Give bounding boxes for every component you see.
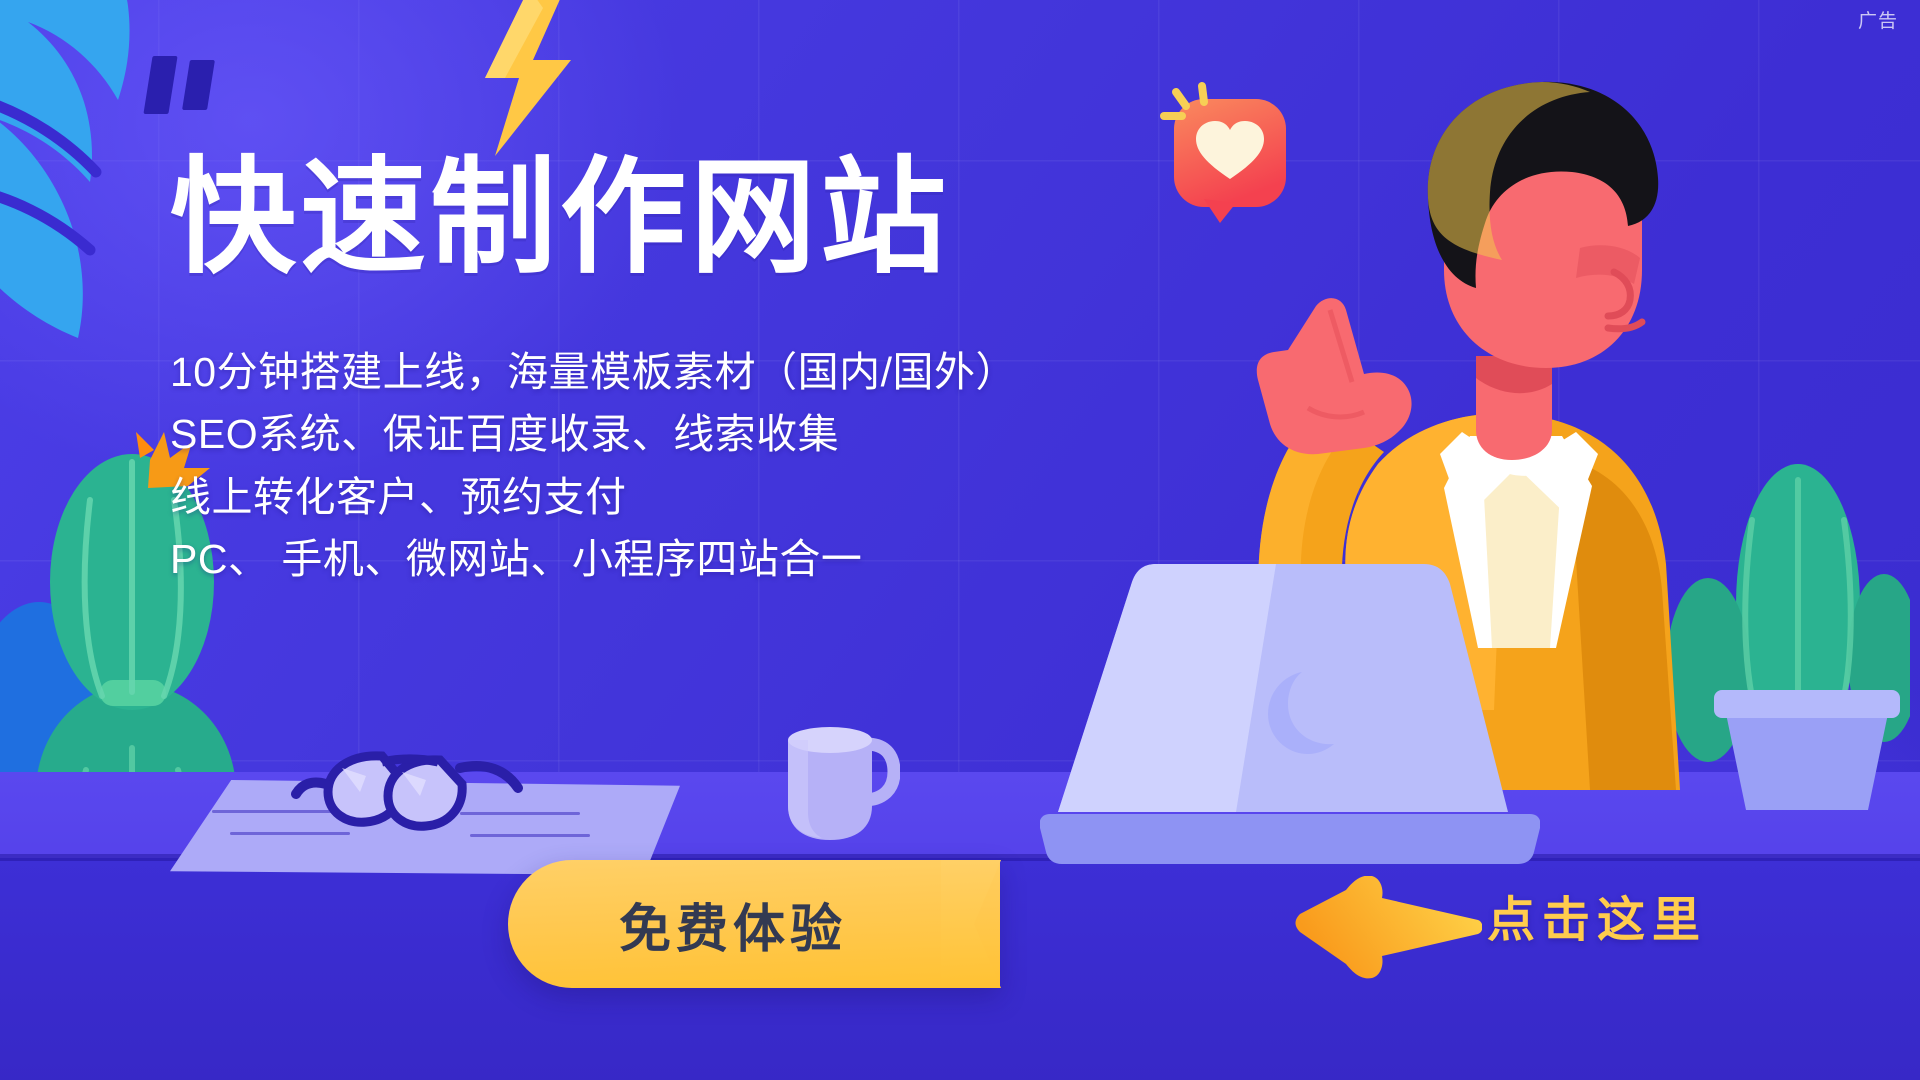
- laptop-icon: [1040, 560, 1540, 870]
- arrow-left-icon: [1292, 876, 1482, 980]
- free-trial-label: 免费体验: [619, 887, 847, 962]
- sparkle-icon: [1160, 80, 1230, 150]
- page-title: 快速制作网站: [170, 150, 1017, 286]
- list-item: 10分钟搭建上线，海量模板素材（国内/国外）: [170, 341, 1017, 403]
- ad-banner: 广告: [0, 0, 1920, 1080]
- list-item: 线上转化客户、预约支付: [170, 466, 1017, 528]
- list-item: SEO系统、保证百度收录、线索收集: [170, 403, 1017, 465]
- ad-label: 广告: [1858, 6, 1898, 33]
- feature-list: 10分钟搭建上线，海量模板素材（国内/国外） SEO系统、保证百度收录、线索收集…: [170, 341, 1017, 590]
- free-trial-button[interactable]: 免费体验: [508, 860, 1000, 988]
- ad-copy: 快速制作网站 10分钟搭建上线，海量模板素材（国内/国外） SEO系统、保证百度…: [170, 150, 1017, 590]
- cta-group: 免费体验: [508, 860, 1000, 988]
- click-here-label: 点击这里: [1487, 880, 1707, 950]
- coffee-mug-icon: [770, 700, 900, 850]
- lightning-bolt-icon: [455, 0, 605, 158]
- plant-pot-icon: [1712, 690, 1902, 810]
- eyeglasses-icon: [290, 740, 560, 850]
- quotation-marks-icon: [148, 56, 211, 114]
- list-item: PC、 手机、微网站、小程序四站合一: [170, 528, 1017, 590]
